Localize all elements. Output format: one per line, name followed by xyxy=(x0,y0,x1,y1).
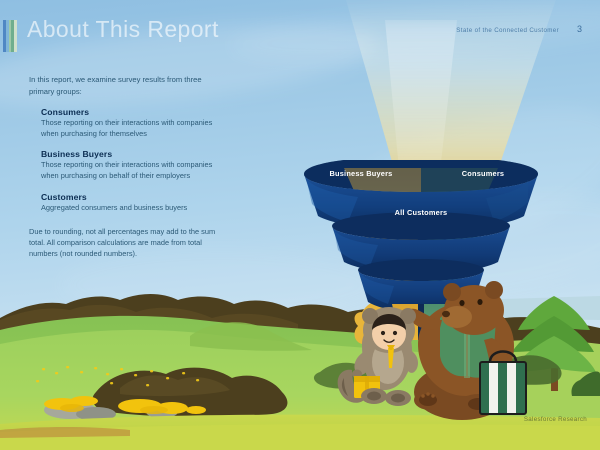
group-title: Business Buyers xyxy=(41,149,229,159)
rounding-note: Due to rounding, not all percentages may… xyxy=(29,226,229,259)
bear-mascot xyxy=(407,281,526,420)
intro-paragraph: In this report, we examine survey result… xyxy=(29,74,229,97)
group-description: Those reporting on their interactions wi… xyxy=(41,160,229,181)
slide-page: Business Buyers Consumers All Customers xyxy=(0,0,600,450)
page-number: 3 xyxy=(577,24,582,34)
group-description: Aggregated consumers and business buyers xyxy=(41,203,229,214)
research-credit: Salesforce Research xyxy=(524,416,587,423)
group-description: Those reporting on their interactions wi… xyxy=(41,118,229,139)
page-title: About This Report xyxy=(27,16,219,43)
body-copy: In this report, we examine survey result… xyxy=(29,74,229,259)
group-customers: Customers Aggregated consumers and busin… xyxy=(29,192,229,214)
header-meta: State of the Connected Customer 3 xyxy=(456,24,582,34)
astro-mascot xyxy=(338,307,418,406)
report-name: State of the Connected Customer xyxy=(456,27,559,34)
group-business-buyers: Business Buyers Those reporting on their… xyxy=(29,149,229,181)
brand-accent-bar xyxy=(3,20,17,52)
group-title: Customers xyxy=(41,192,229,202)
group-consumers: Consumers Those reporting on their inter… xyxy=(29,107,229,139)
group-title: Consumers xyxy=(41,107,229,117)
